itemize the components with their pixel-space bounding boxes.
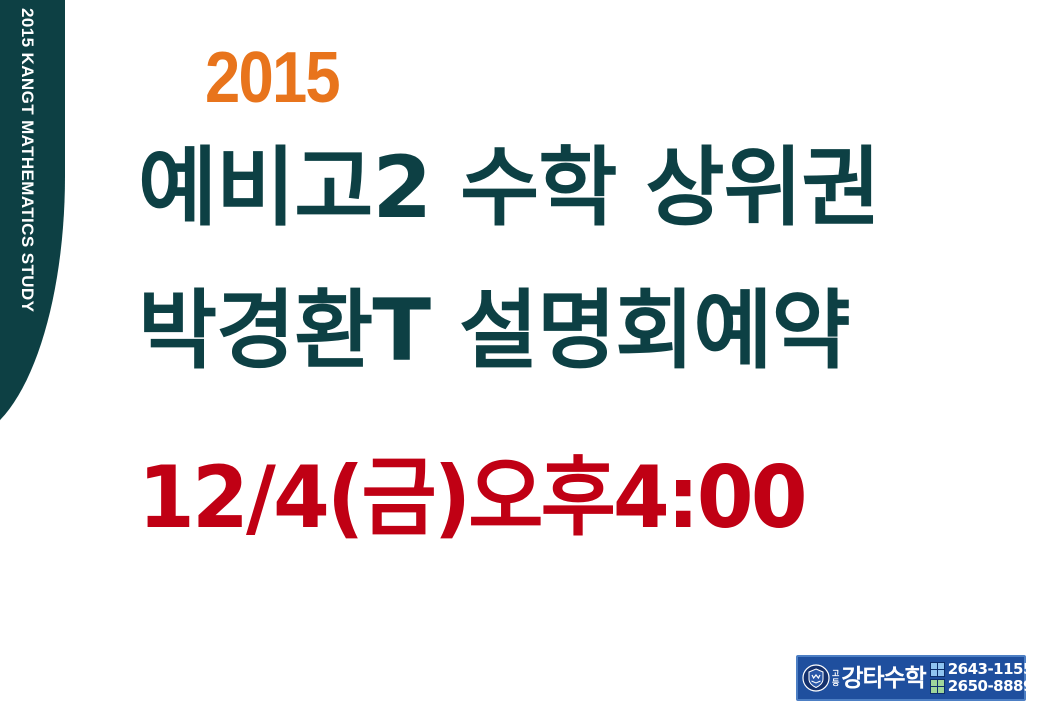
logo-prefix-line-1: 고	[832, 669, 839, 678]
logo-brand-name: 강타수학	[841, 665, 925, 691]
headline-line-1: 예비고2 수학 상위권	[138, 145, 978, 233]
phone-number-2: 2650-8889	[948, 678, 1033, 695]
academy-logo-banner: 고 등 강타수학 2643-1155 2650-8889	[796, 655, 1026, 701]
side-banner-inner: 2015 KANGT MATHEMATICS STUDY	[0, 0, 65, 440]
school-crest-icon	[802, 664, 830, 692]
contact-tile-icons	[930, 662, 945, 694]
logo-prefix-line-2: 등	[832, 678, 839, 687]
logo-contact-block: 2643-1155 2650-8889	[930, 661, 1033, 695]
phone-number-1: 2643-1155	[948, 661, 1033, 678]
poster-slide: 2015 KANGT MATHEMATICS STUDY 2015 예비고2 수…	[0, 0, 1040, 720]
side-banner: 2015 KANGT MATHEMATICS STUDY	[0, 0, 65, 440]
headline-line-2: 박경환T 설명회예약	[138, 288, 978, 376]
headline-block: 예비고2 수학 상위권 박경환T 설명회예약	[138, 145, 978, 375]
side-banner-label: 2015 KANGT MATHEMATICS STUDY	[10, 8, 44, 428]
year-heading: 2015	[205, 42, 339, 114]
tile-blue-icon	[930, 662, 945, 677]
event-datetime: 12/4(금)오후4:00	[138, 455, 805, 543]
logo-prefix: 고 등	[832, 669, 839, 687]
tile-green-icon	[930, 679, 945, 694]
phone-number-list: 2643-1155 2650-8889	[948, 661, 1033, 695]
